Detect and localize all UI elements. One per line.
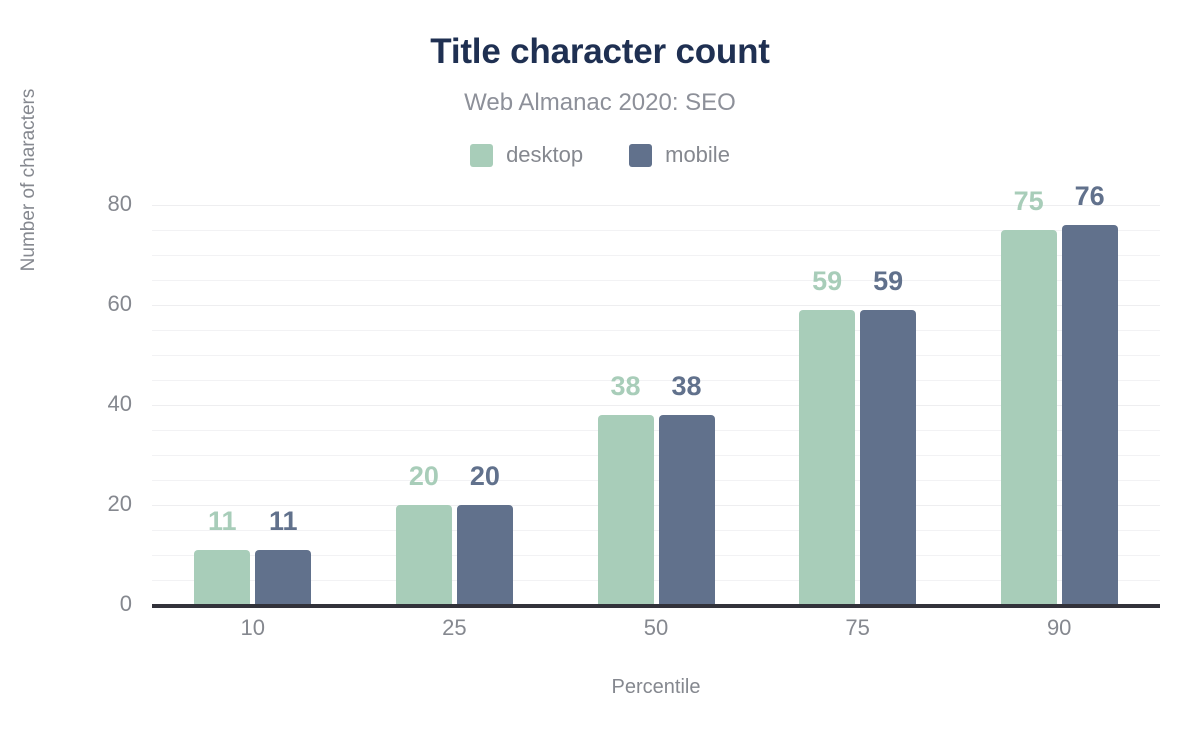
bar-value-mobile-10: 11 [248, 506, 318, 536]
bar-mobile-10[interactable] [255, 550, 311, 605]
y-axis-tick-label: 40 [42, 393, 132, 415]
chart-title: Title character count [0, 30, 1200, 74]
bar-value-desktop-25: 20 [389, 461, 459, 491]
bar-mobile-25[interactable] [457, 505, 513, 605]
chart-subtitle: Web Almanac 2020: SEO [0, 88, 1200, 118]
bar-value-mobile-75: 59 [853, 266, 923, 296]
y-axis-tick-label: 20 [42, 493, 132, 515]
x-axis-tick-label: 75 [778, 615, 938, 641]
bar-value-desktop-50: 38 [591, 371, 661, 401]
bar-group: 5959 [799, 205, 916, 605]
bar-mobile-90[interactable] [1062, 225, 1118, 605]
bar-group: 2020 [396, 205, 513, 605]
bar-desktop-25[interactable] [396, 505, 452, 605]
bar-value-mobile-50: 38 [652, 371, 722, 401]
plot-area: 11112020383859597576 [152, 205, 1160, 605]
legend-swatch-desktop [470, 144, 493, 167]
bar-mobile-50[interactable] [659, 415, 715, 605]
bar-group: 1111 [194, 205, 311, 605]
x-axis-line [152, 604, 1160, 608]
bar-value-mobile-90: 76 [1055, 181, 1125, 211]
legend-label-desktop: desktop [506, 143, 583, 167]
bar-group: 3838 [598, 205, 715, 605]
bar-value-desktop-90: 75 [994, 186, 1064, 216]
legend-item-desktop[interactable]: desktop [470, 143, 583, 167]
bar-desktop-50[interactable] [598, 415, 654, 605]
y-axis-tick-label: 60 [42, 293, 132, 315]
bar-value-mobile-25: 20 [450, 461, 520, 491]
x-axis-tick-label: 10 [173, 615, 333, 641]
bar-mobile-75[interactable] [860, 310, 916, 605]
y-axis-tick-label: 0 [42, 593, 132, 615]
chart-container: Title character count Web Almanac 2020: … [0, 0, 1200, 742]
legend-item-mobile[interactable]: mobile [629, 143, 730, 167]
x-axis-tick-label: 50 [576, 615, 736, 641]
chart-legend: desktop mobile [0, 140, 1200, 170]
x-axis-tick-label: 90 [979, 615, 1139, 641]
legend-label-mobile: mobile [665, 143, 730, 167]
bar-desktop-90[interactable] [1001, 230, 1057, 605]
legend-swatch-mobile [629, 144, 652, 167]
x-axis-tick-label: 25 [374, 615, 534, 641]
y-axis-tick-label: 80 [42, 193, 132, 215]
x-axis-title: Percentile [152, 676, 1160, 699]
bar-value-desktop-75: 59 [792, 266, 862, 296]
bar-desktop-10[interactable] [194, 550, 250, 605]
bar-group: 7576 [1001, 205, 1118, 605]
y-axis-title: Number of characters [18, 60, 40, 300]
bar-desktop-75[interactable] [799, 310, 855, 605]
bar-value-desktop-10: 11 [187, 506, 257, 536]
